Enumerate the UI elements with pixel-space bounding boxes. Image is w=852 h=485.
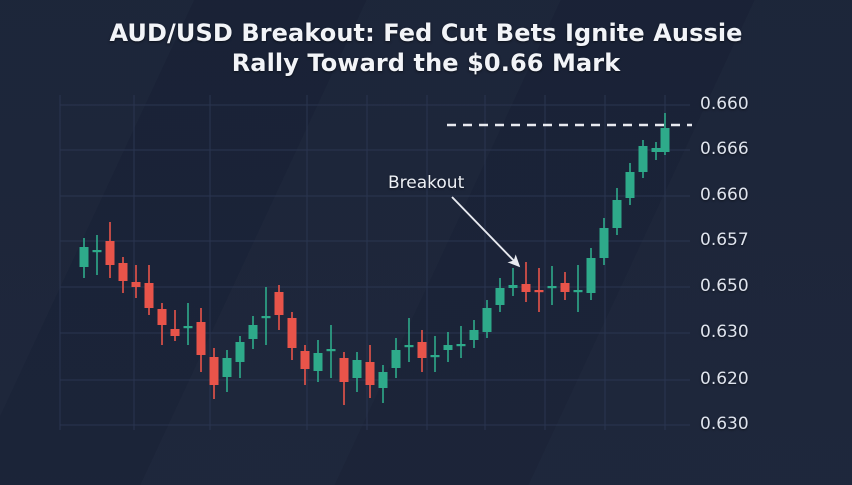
candle-body bbox=[626, 172, 635, 198]
candle-body bbox=[223, 358, 232, 377]
candle-body bbox=[496, 288, 505, 305]
candle-body bbox=[661, 128, 670, 152]
y-axis-tick-label: 0.650 bbox=[700, 278, 749, 295]
candlestick bbox=[496, 278, 505, 312]
candle-body bbox=[353, 360, 362, 378]
candle-body bbox=[145, 283, 154, 308]
candlestick bbox=[600, 218, 609, 265]
candlestick bbox=[639, 140, 648, 178]
candlestick bbox=[613, 188, 622, 235]
candle-body bbox=[301, 351, 310, 369]
y-axis-tick-label: 0.660 bbox=[700, 96, 749, 113]
candle-body bbox=[613, 200, 622, 228]
candlestick bbox=[535, 268, 544, 312]
candle-body bbox=[574, 290, 583, 292]
candlestick bbox=[431, 336, 440, 372]
candlestick bbox=[561, 272, 570, 300]
y-axis-tick-label: 0.630 bbox=[700, 324, 749, 341]
candlestick-series bbox=[60, 95, 690, 430]
candle-body bbox=[314, 353, 323, 371]
candle-body bbox=[80, 247, 89, 267]
candlestick bbox=[587, 248, 596, 300]
candlestick bbox=[132, 265, 141, 298]
candle-body bbox=[93, 250, 102, 252]
y-axis-tick-label: 0.666 bbox=[700, 141, 749, 158]
candlestick bbox=[366, 345, 375, 398]
candle-body bbox=[444, 345, 453, 350]
candlestick bbox=[249, 316, 258, 349]
candle-body bbox=[587, 258, 596, 293]
candle-body bbox=[535, 290, 544, 292]
candlestick bbox=[262, 287, 271, 345]
candlestick bbox=[158, 303, 167, 345]
candlestick bbox=[652, 142, 661, 160]
candlestick bbox=[93, 235, 102, 275]
candlestick bbox=[392, 338, 401, 378]
candle-body bbox=[262, 316, 271, 318]
candle-body bbox=[197, 322, 206, 355]
candlestick bbox=[444, 332, 453, 362]
candle-body bbox=[600, 228, 609, 258]
candlestick bbox=[470, 320, 479, 348]
candle-body bbox=[288, 318, 297, 348]
candle-body bbox=[652, 148, 661, 152]
y-axis-tick-label: 0.630 bbox=[700, 416, 749, 433]
candlestick bbox=[327, 325, 336, 378]
breakout-annotation-label: Breakout bbox=[388, 175, 464, 192]
candle-body bbox=[340, 358, 349, 382]
chart-screenshot: AUD/USD Breakout: Fed Cut Bets Ignite Au… bbox=[0, 0, 852, 485]
candlestick bbox=[223, 350, 232, 392]
candle-body bbox=[366, 362, 375, 385]
candlestick bbox=[145, 265, 154, 315]
candlestick bbox=[418, 330, 427, 372]
candle-body bbox=[171, 329, 180, 336]
candlestick bbox=[314, 340, 323, 382]
candle-body bbox=[119, 263, 128, 281]
candlestick-plot-area bbox=[60, 95, 690, 430]
candlestick bbox=[379, 365, 388, 403]
candlestick bbox=[171, 310, 180, 341]
candlestick bbox=[301, 345, 310, 385]
candle-body bbox=[379, 372, 388, 388]
candlestick bbox=[457, 326, 466, 358]
candle-body bbox=[184, 326, 193, 328]
candle-body bbox=[639, 146, 648, 172]
candlestick bbox=[353, 352, 362, 392]
candlestick bbox=[184, 303, 193, 345]
candle-body bbox=[483, 308, 492, 332]
candle-body bbox=[158, 309, 167, 325]
candlestick bbox=[548, 266, 557, 305]
candle-body bbox=[418, 342, 427, 358]
candlestick bbox=[106, 222, 115, 278]
candle-body bbox=[275, 292, 284, 315]
candle-body bbox=[405, 345, 414, 347]
y-axis-tick-label: 0.657 bbox=[700, 232, 749, 249]
candlestick bbox=[236, 336, 245, 378]
candlestick bbox=[288, 312, 297, 360]
candle-body bbox=[470, 330, 479, 340]
candle-body bbox=[210, 357, 219, 385]
candle-body bbox=[561, 283, 570, 292]
candle-body bbox=[392, 350, 401, 368]
candle-body bbox=[327, 349, 336, 351]
candlestick bbox=[119, 257, 128, 293]
candle-body bbox=[548, 286, 557, 288]
y-axis-tick-label: 0.660 bbox=[700, 187, 749, 204]
candlestick bbox=[509, 268, 518, 296]
candle-body bbox=[249, 325, 258, 339]
candle-body bbox=[106, 241, 115, 265]
candlestick bbox=[405, 318, 414, 362]
candlestick bbox=[275, 285, 284, 330]
candle-body bbox=[236, 342, 245, 362]
candle-body bbox=[509, 285, 518, 288]
candle-body bbox=[431, 355, 440, 357]
candlestick bbox=[483, 300, 492, 338]
candlestick bbox=[626, 163, 635, 205]
candlestick bbox=[574, 265, 583, 312]
candle-body bbox=[132, 282, 141, 287]
candle-body bbox=[522, 284, 531, 292]
candlestick bbox=[661, 113, 670, 155]
candlestick bbox=[210, 348, 219, 399]
candlestick bbox=[522, 262, 531, 302]
y-axis-tick-label: 0.620 bbox=[700, 371, 749, 388]
candlestick bbox=[197, 308, 206, 372]
candlestick bbox=[80, 238, 89, 278]
candlestick bbox=[340, 352, 349, 405]
candle-body bbox=[457, 344, 466, 346]
y-axis-labels: 0.6600.6660.6600.6570.6500.6300.6200.630 bbox=[700, 0, 852, 485]
